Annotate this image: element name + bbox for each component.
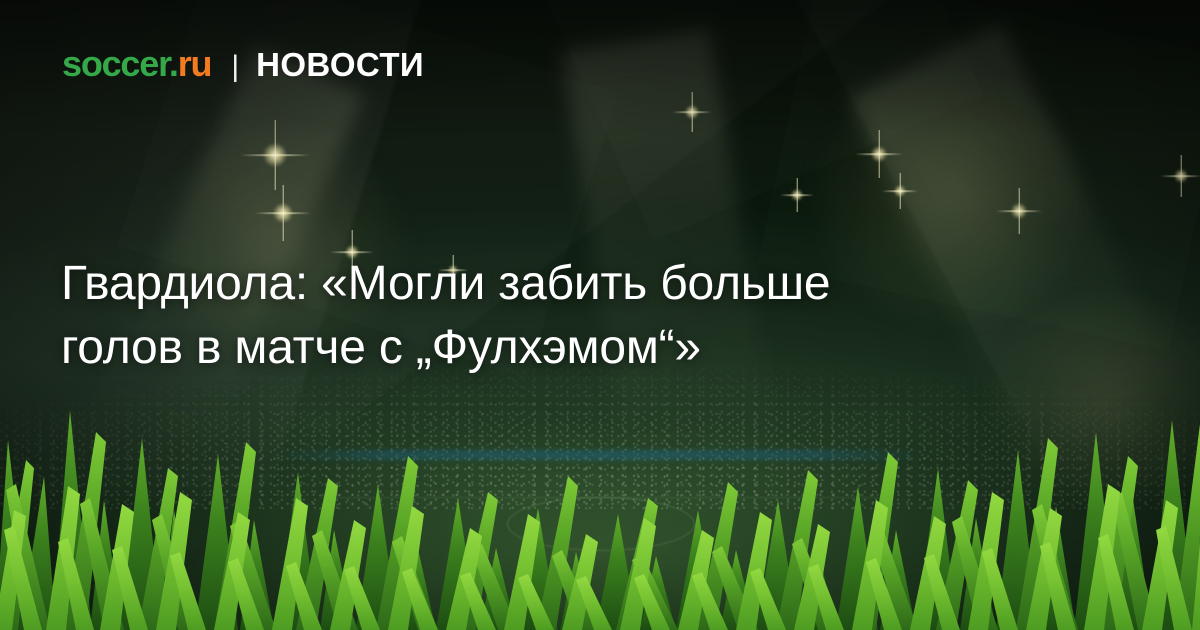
headline-line-1: Гвардиола: «Могли забить больше [61,252,1081,316]
article-headline: Гвардиола: «Могли забить больше голов в … [61,252,1081,380]
site-logo[interactable]: soccer.ru [62,46,211,82]
grass-foreground [0,380,1200,630]
share-card: soccer.ru | НОВОСТИ Гвардиола: «Могли за… [0,0,1200,630]
logo-dot: . [169,43,178,84]
headline-line-2: голов в матче с „Фулхэмом“» [61,316,1081,380]
site-header: soccer.ru | НОВОСТИ [62,46,424,82]
grass-svg [0,380,1200,630]
logo-word-soccer: soccer [62,43,169,84]
header-separator: | [231,52,239,82]
logo-word-ru: ru [178,43,212,84]
section-label-novosti[interactable]: НОВОСТИ [256,48,424,81]
